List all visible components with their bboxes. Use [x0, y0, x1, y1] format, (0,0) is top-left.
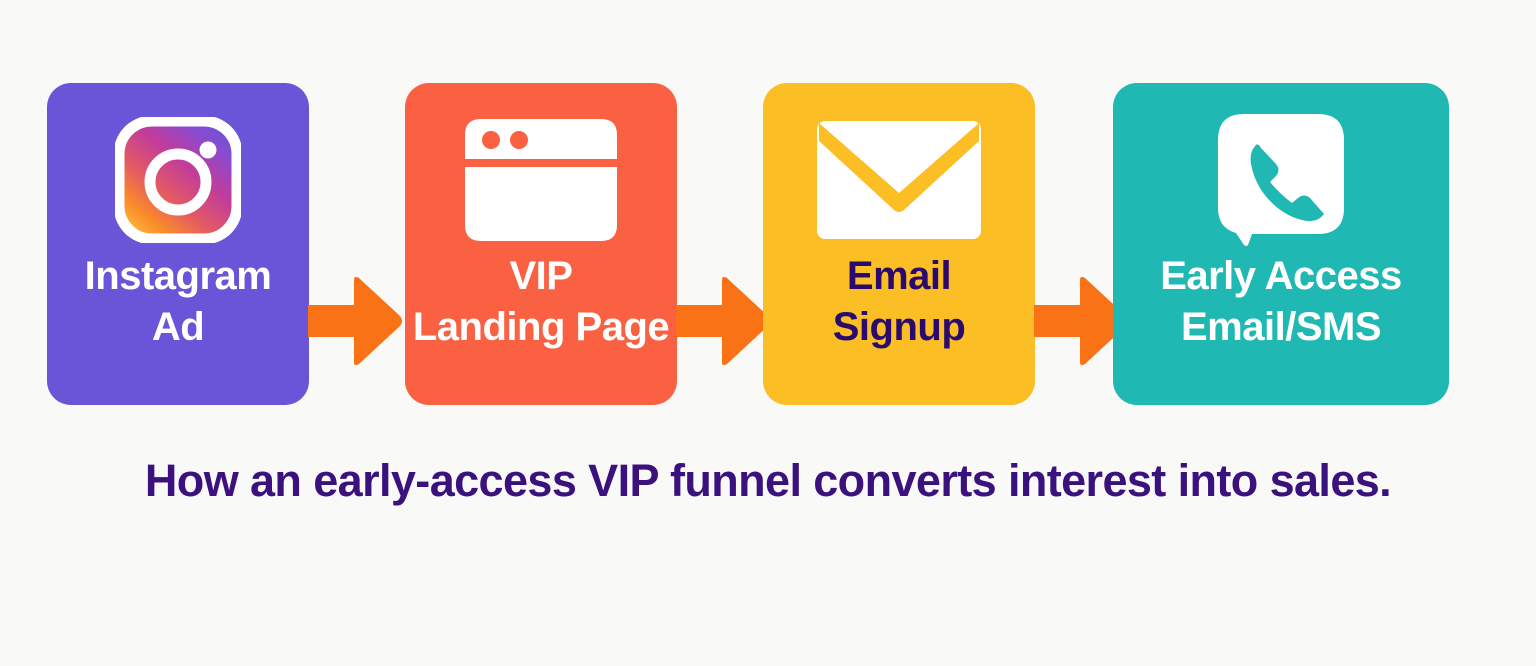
funnel-step-vip-landing-page[interactable]: VIP Landing Page — [405, 83, 677, 405]
phone-chat-bubble-icon-slot — [1218, 115, 1344, 245]
label-line: Email/SMS — [1113, 302, 1449, 353]
funnel-step-email-signup-label: Email Signup — [763, 251, 1035, 353]
browser-window-icon-slot — [465, 115, 617, 245]
arrow-right-icon — [676, 275, 772, 367]
envelope-icon — [817, 121, 981, 239]
funnel-steps-row: Instagram Ad VIP Landing Page — [0, 83, 1536, 405]
instagram-icon-slot — [115, 115, 241, 245]
browser-window-icon — [465, 119, 617, 241]
label-line: Email — [763, 251, 1035, 302]
funnel-step-early-access-label: Early Access Email/SMS — [1113, 251, 1449, 353]
funnel-step-early-access[interactable]: Early Access Email/SMS — [1113, 83, 1449, 405]
diagram-caption: How an early-access VIP funnel converts … — [0, 455, 1536, 507]
arrow-landing-to-signup — [676, 275, 772, 367]
funnel-step-vip-landing-page-label: VIP Landing Page — [405, 251, 677, 353]
funnel-step-instagram-ad[interactable]: Instagram Ad — [47, 83, 309, 405]
instagram-icon — [115, 117, 241, 243]
label-line: VIP — [405, 251, 677, 302]
envelope-icon-slot — [817, 115, 981, 245]
label-line: Signup — [763, 302, 1035, 353]
funnel-diagram: Instagram Ad VIP Landing Page — [0, 0, 1536, 666]
arrow-instagram-to-landing — [308, 275, 404, 367]
funnel-step-email-signup[interactable]: Email Signup — [763, 83, 1035, 405]
label-line: Landing Page — [405, 302, 677, 353]
label-line: Instagram — [47, 251, 309, 302]
label-line: Ad — [47, 302, 309, 353]
label-line: Early Access — [1113, 251, 1449, 302]
phone-chat-bubble-icon — [1218, 114, 1344, 246]
funnel-step-instagram-ad-label: Instagram Ad — [47, 251, 309, 353]
arrow-right-icon — [308, 275, 404, 367]
